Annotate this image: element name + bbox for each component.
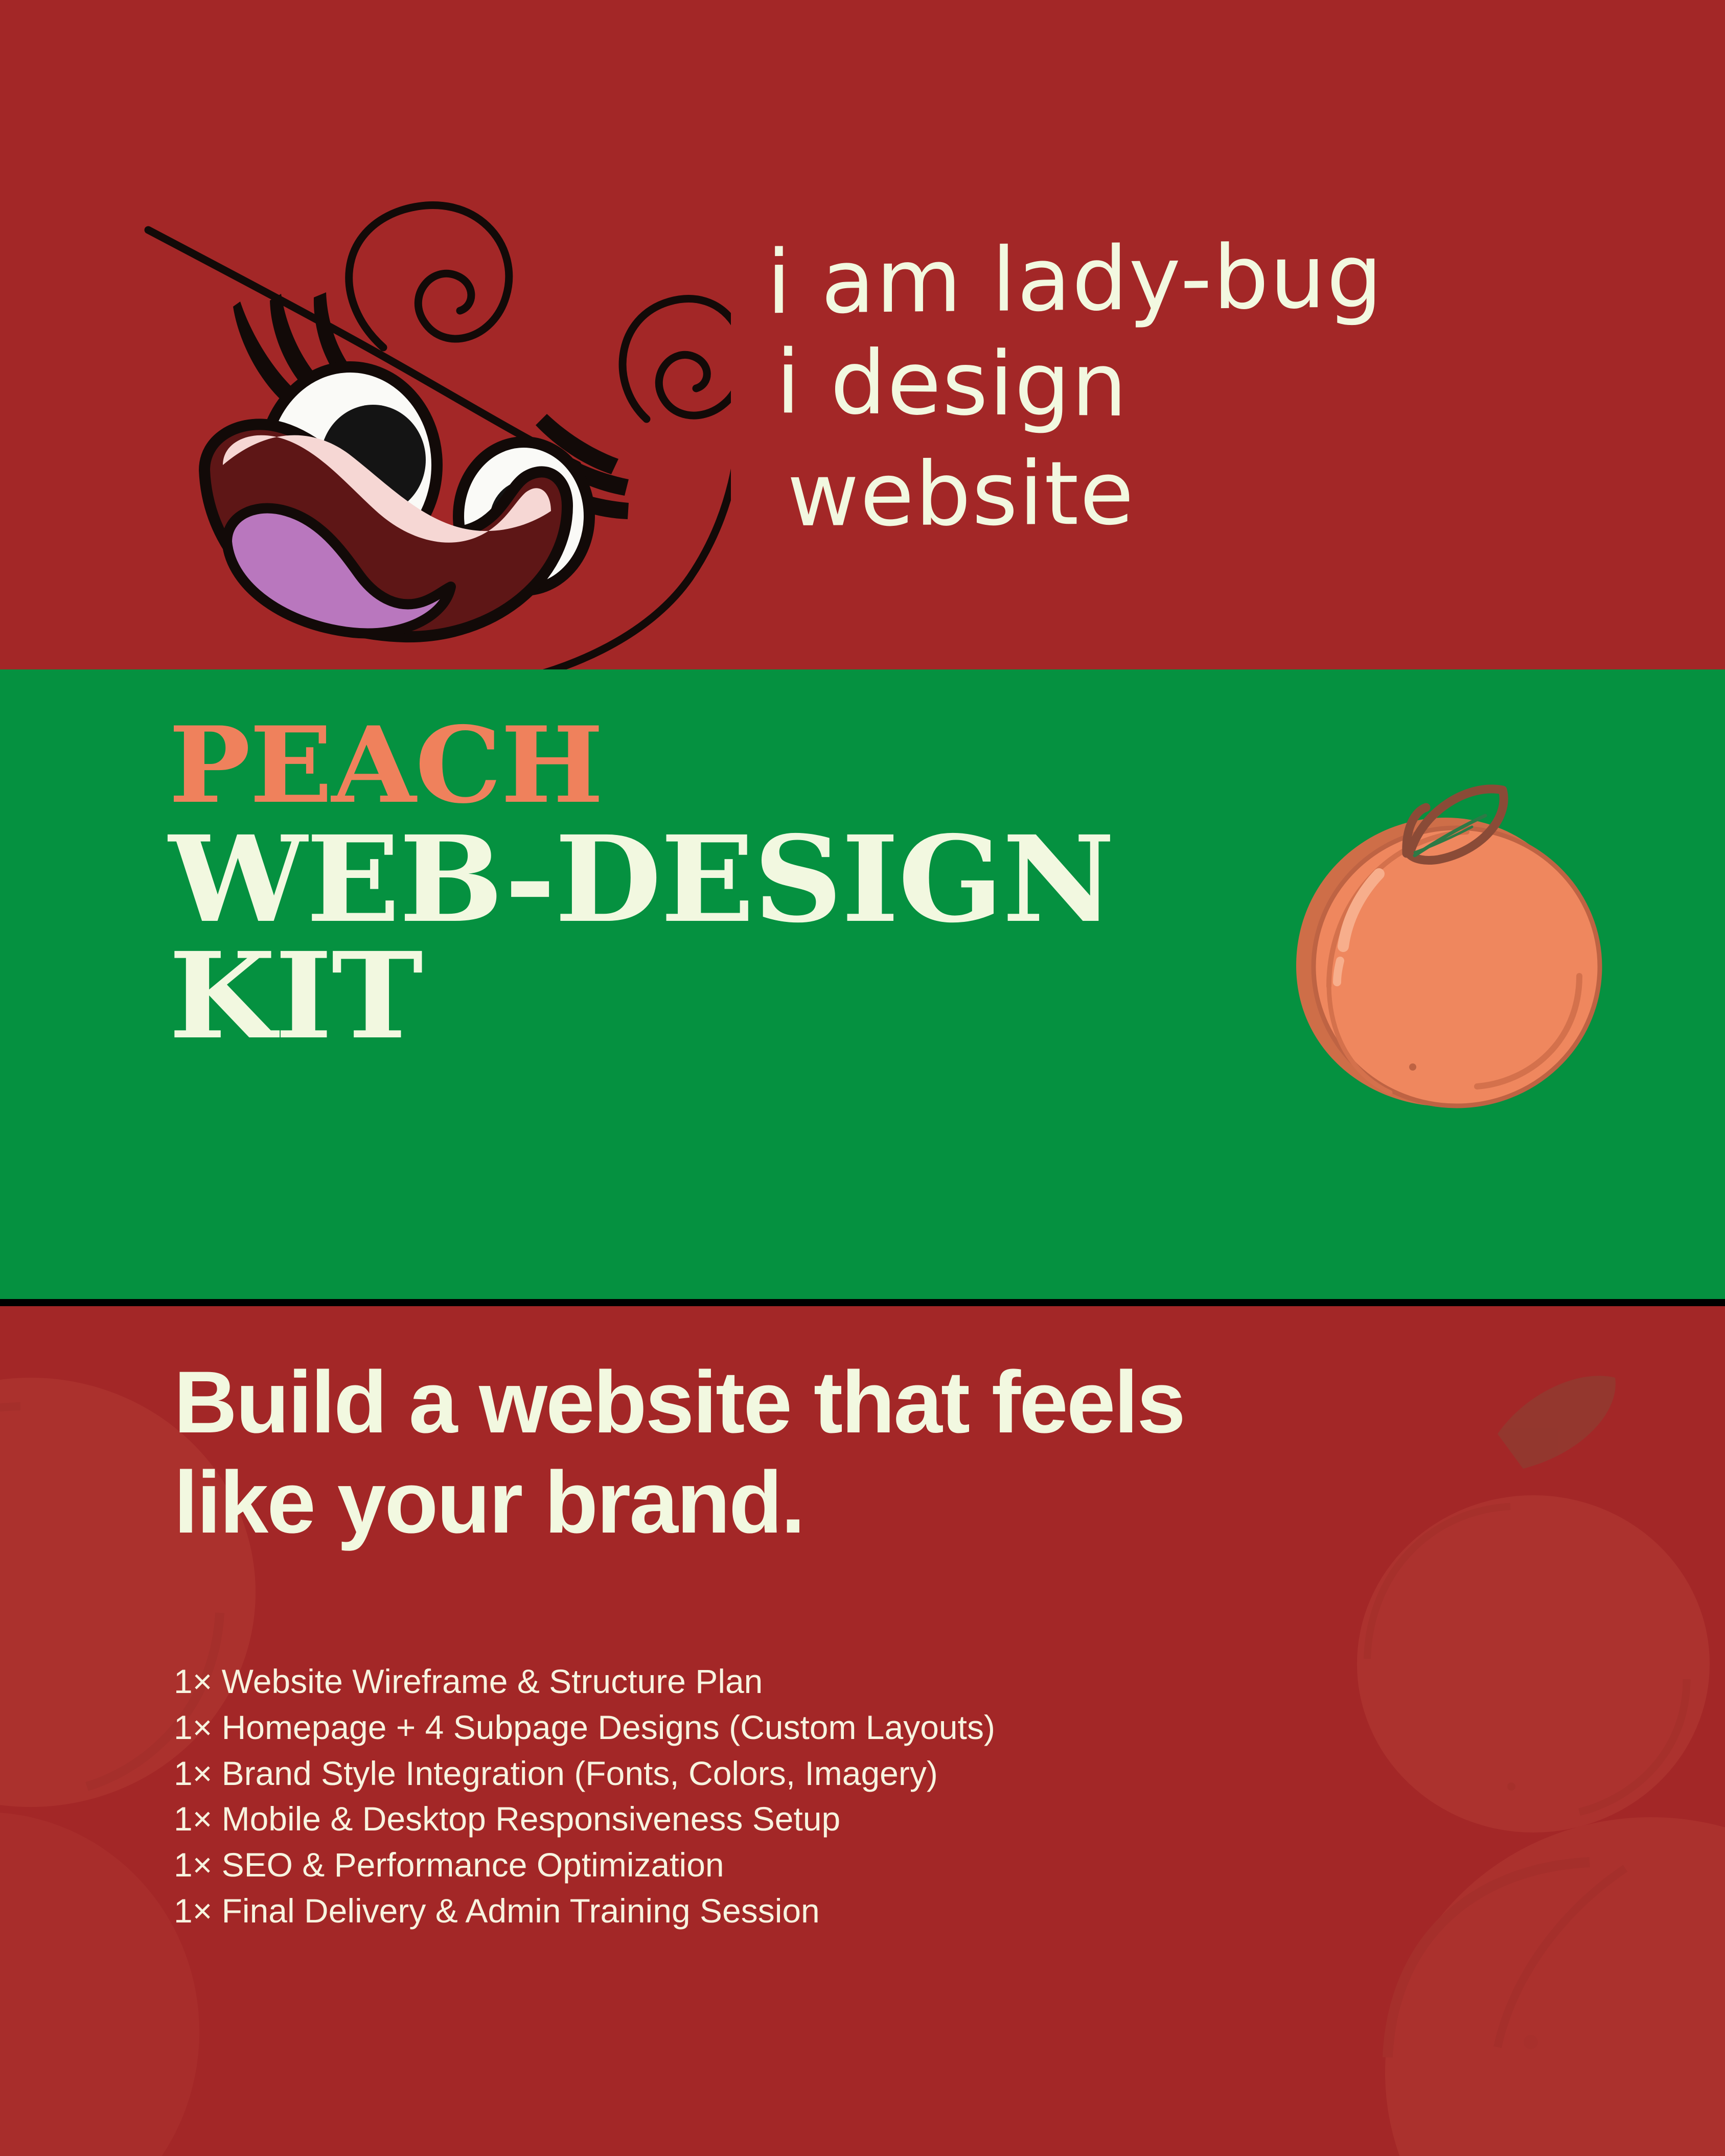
header-section: i am lady-bug i design website [0, 0, 1725, 669]
list-item: 1× SEO & Performance Optimization [174, 1842, 1528, 1888]
handwritten-tagline: i am lady-bug i design website [767, 225, 1584, 546]
deliverables-list: 1× Website Wireframe & Structure Plan 1×… [174, 1659, 1528, 1934]
list-item: 1× Website Wireframe & Structure Plan [174, 1659, 1528, 1705]
list-item: 1× Homepage + 4 Subpage Designs (Custom … [174, 1705, 1528, 1751]
peach-fruit-icon [1252, 746, 1630, 1124]
tagline-line-1: Build a website that feels [174, 1352, 1554, 1452]
list-item: 1× Brand Style Integration (Fonts, Color… [174, 1751, 1528, 1797]
title-line-peach: PEACH [169, 718, 1285, 813]
handwritten-line-2: i design [776, 329, 1584, 443]
list-item: 1× Final Delivery & Admin Training Sessi… [174, 1888, 1528, 1934]
tagline: Build a website that feels like your bra… [174, 1352, 1554, 1552]
title-line-kit: KIT [169, 943, 1285, 1050]
kit-title-block: PEACH WEB-DESIGN KIT [169, 718, 1242, 1050]
body-section: Build a website that feels like your bra… [0, 1306, 1725, 2156]
section-divider [0, 1299, 1725, 1306]
tagline-line-2: like your brand. [174, 1452, 1554, 1552]
handwritten-line-1: i am lady-bug [767, 221, 1584, 337]
list-item: 1× Mobile & Desktop Responsiveness Setup [174, 1796, 1528, 1842]
poster-canvas: i am lady-bug i design website PEACH WEB… [0, 0, 1725, 2156]
ladybug-face-icon [118, 61, 731, 669]
title-line-web-design: WEB-DESIGN [169, 826, 1285, 933]
handwritten-line-3: website [787, 437, 1584, 549]
